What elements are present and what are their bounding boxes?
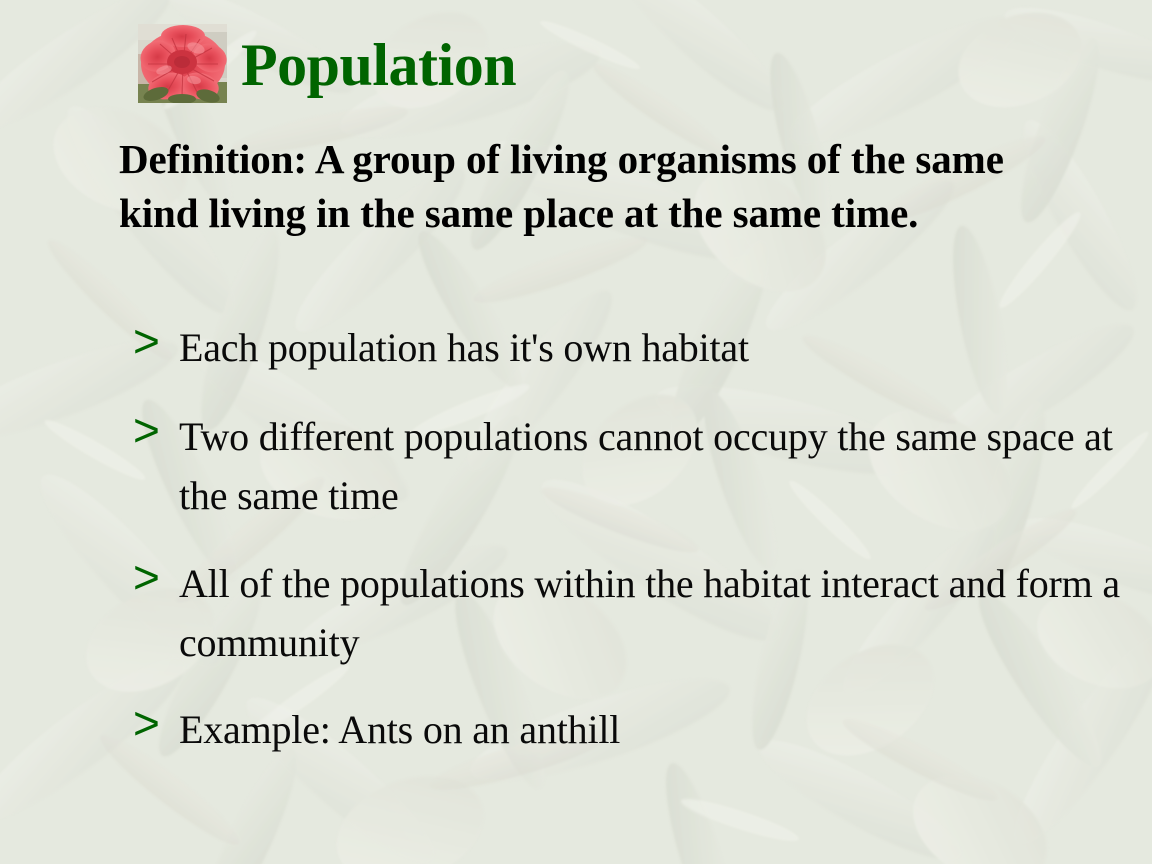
definition-paragraph: Definition: A group of living organisms … [119, 133, 1084, 240]
bullet-list: > Each population has it's own habitat >… [119, 318, 1139, 759]
list-item: > All of the populations within the habi… [119, 554, 1139, 672]
list-item: > Two different populations cannot occup… [119, 407, 1139, 525]
list-item-label: Example: Ants on an anthill [179, 707, 620, 752]
chevron-right-bullet-icon: > [133, 548, 160, 608]
list-item-label: All of the populations within the habita… [179, 561, 1120, 665]
chevron-right-bullet-icon: > [133, 401, 160, 461]
list-item: > Each population has it's own habitat [119, 318, 1139, 377]
slide-content: Population Definition: A group of living… [0, 0, 1152, 864]
list-item-label: Two different populations cannot occupy … [179, 414, 1113, 518]
page-title: Population [241, 35, 516, 95]
list-item-label: Each population has it's own habitat [179, 325, 749, 370]
list-item: > Example: Ants on an anthill [119, 700, 1139, 759]
slide-title-row: Population [138, 24, 516, 103]
chevron-right-bullet-icon: > [133, 312, 160, 372]
chevron-right-bullet-icon: > [133, 694, 160, 754]
presentation-slide: Population Definition: A group of living… [0, 0, 1152, 864]
carnation-flower-image [138, 24, 227, 103]
